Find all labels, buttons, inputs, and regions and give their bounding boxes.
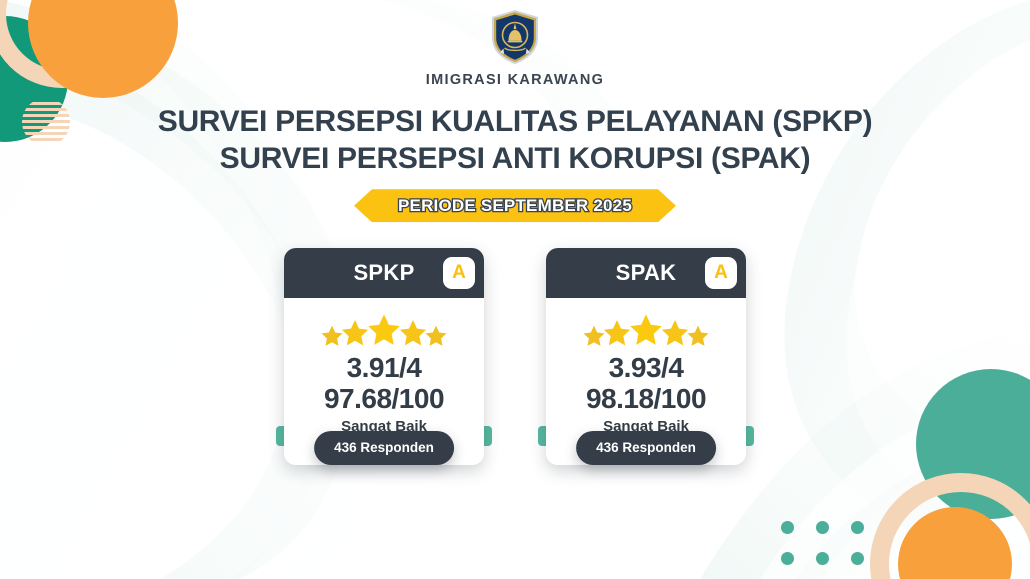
card-title: SPAK	[616, 260, 677, 286]
period-ribbon: PERIODE SEPTEMBER 2025	[354, 189, 676, 222]
period-ribbon-container: PERIODE SEPTEMBER 2025	[0, 189, 1030, 222]
survey-card-spak: SPAK A 3.93/4 98.18/100 Sanga	[546, 248, 746, 465]
poster-canvas: IMIGRASI KARAWANG SURVEI PERSEPSI KUALIT…	[0, 0, 1030, 579]
grade-badge: A	[443, 257, 475, 289]
star-icon	[686, 324, 710, 348]
survey-card-spkp: SPKP A 3.91/4 97.68/100 Sanga	[284, 248, 484, 465]
respondent-count-pill: 436 Responden	[314, 431, 454, 465]
respondent-count-pill: 436 Responden	[576, 431, 716, 465]
star-icon	[366, 312, 402, 348]
decor-circle-orange-bottomright	[898, 507, 1012, 579]
score-scale-100: 98.18/100	[554, 383, 738, 414]
card-title: SPKP	[353, 260, 414, 286]
star-rating	[292, 314, 476, 348]
page-title-line-2: SURVEI PERSEPSI ANTI KORUPSI (SPAK)	[0, 141, 1030, 178]
card-header: SPKP A	[284, 248, 484, 298]
star-rating	[554, 314, 738, 348]
poster-header: IMIGRASI KARAWANG SURVEI PERSEPSI KUALIT…	[0, 0, 1030, 222]
organization-name: IMIGRASI KARAWANG	[0, 72, 1030, 88]
card-header: SPAK A	[546, 248, 746, 298]
star-icon	[628, 312, 664, 348]
survey-results-cards: SPKP A 3.91/4 97.68/100 Sanga	[0, 248, 1030, 465]
grade-badge: A	[705, 257, 737, 289]
score-scale-4: 3.93/4	[554, 352, 738, 383]
decor-dot-grid	[781, 521, 864, 579]
respondent-count: 436 Responden	[596, 440, 696, 455]
grade-letter: A	[714, 262, 728, 284]
score-scale-100: 97.68/100	[292, 383, 476, 414]
score-scale-4: 3.91/4	[292, 352, 476, 383]
grade-letter: A	[452, 262, 466, 284]
page-title-line-1: SURVEI PERSEPSI KUALITAS PELAYANAN (SPKP…	[0, 104, 1030, 141]
imigrasi-shield-emblem-icon	[488, 8, 542, 66]
decor-ring-peach-bottomright	[870, 473, 1030, 579]
poster-title: SURVEI PERSEPSI KUALITAS PELAYANAN (SPKP…	[0, 104, 1030, 177]
period-label: PERIODE SEPTEMBER 2025	[398, 196, 632, 216]
respondent-count: 436 Responden	[334, 440, 434, 455]
star-icon	[424, 324, 448, 348]
